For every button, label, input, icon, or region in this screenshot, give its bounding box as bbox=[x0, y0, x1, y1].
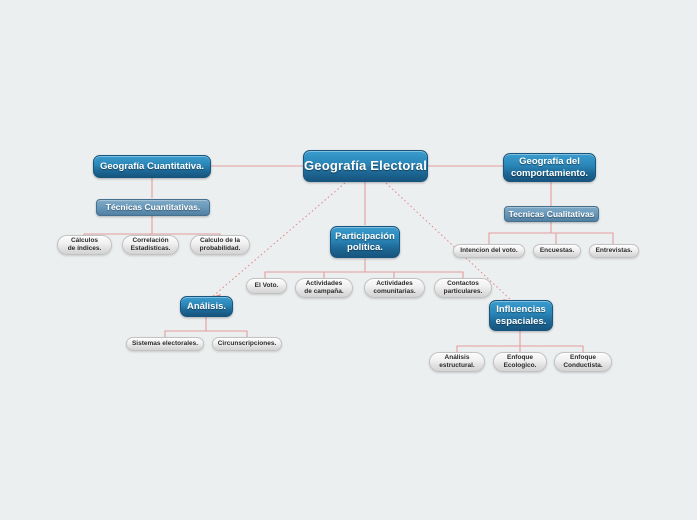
node-actividades-campana-label: Actividades de campaña. bbox=[304, 280, 343, 295]
node-participacion-politica-label: Participación política. bbox=[335, 231, 395, 253]
node-enfoque-conductista[interactable]: Enfoque Conductista. bbox=[554, 352, 612, 372]
node-sistemas-electorales-label: Sistemas electorales. bbox=[132, 340, 198, 348]
node-calculos-indices[interactable]: Cálculos de índices. bbox=[57, 235, 112, 255]
link-tcual-fanout bbox=[489, 233, 613, 244]
node-sistemas-electorales[interactable]: Sistemas electorales. bbox=[126, 337, 204, 351]
node-analisis-estructural[interactable]: Análisis estructural. bbox=[429, 352, 485, 372]
node-actividades-comunitarias-label: Actividades comunitarias. bbox=[373, 280, 415, 295]
node-geografia-comportamiento[interactable]: Geografía del comportamiento. bbox=[503, 153, 596, 182]
node-actividades-campana[interactable]: Actividades de campaña. bbox=[295, 278, 353, 298]
node-enfoque-ecologico[interactable]: Enfoque Ecologico. bbox=[493, 352, 547, 372]
node-enfoque-conductista-label: Enfoque Conductista. bbox=[563, 354, 602, 369]
node-circunscripciones-label: Circunscripciones. bbox=[218, 340, 277, 348]
node-correlacion-estadisticas[interactable]: Correlación Estadisticas. bbox=[122, 235, 179, 255]
connector-layer bbox=[0, 0, 697, 520]
node-calculos-indices-label: Cálculos de índices. bbox=[68, 237, 102, 252]
node-encuestas[interactable]: Encuestas. bbox=[533, 244, 581, 258]
node-calculo-probabilidad-label: Calculo de la probabilidad. bbox=[200, 237, 241, 252]
node-geografia-comportamiento-label: Geografía del comportamiento. bbox=[511, 156, 588, 178]
node-encuestas-label: Encuestas. bbox=[540, 247, 574, 255]
node-root-label: Geografía Electoral bbox=[304, 158, 427, 173]
node-tecnicas-cualitativas[interactable]: Tecnicas Cualitativas bbox=[504, 206, 599, 222]
link-participacion-fanout bbox=[265, 272, 463, 278]
node-intencion-voto[interactable]: Intencion del voto. bbox=[453, 244, 525, 258]
node-influencias-espaciales-label: Influencias espaciales. bbox=[496, 304, 547, 326]
node-geografia-cuantitativa-label: Geografía Cuantitativa. bbox=[100, 161, 204, 172]
node-circunscripciones[interactable]: Circunscripciones. bbox=[212, 337, 282, 351]
node-analisis[interactable]: Análisis. bbox=[180, 296, 233, 317]
node-actividades-comunitarias[interactable]: Actividades comunitarias. bbox=[364, 278, 425, 298]
node-tecnicas-cuantitativas-label: Técnicas Cuantitativas. bbox=[106, 202, 200, 212]
node-participacion-politica[interactable]: Participación política. bbox=[330, 226, 400, 258]
node-el-voto-label: El Voto. bbox=[255, 282, 279, 290]
node-contactos-particulares[interactable]: Contactos particulares. bbox=[434, 278, 492, 298]
node-calculo-probabilidad[interactable]: Calculo de la probabilidad. bbox=[190, 235, 250, 255]
node-influencias-espaciales[interactable]: Influencias espaciales. bbox=[489, 300, 553, 331]
node-entrevistas-label: Entrevistas. bbox=[596, 247, 633, 255]
node-geografia-cuantitativa[interactable]: Geografía Cuantitativa. bbox=[93, 155, 211, 178]
node-root[interactable]: Geografía Electoral bbox=[303, 150, 428, 182]
node-tecnicas-cuantitativas[interactable]: Técnicas Cuantitativas. bbox=[96, 199, 210, 216]
node-correlacion-estadisticas-label: Correlación Estadisticas. bbox=[131, 237, 171, 252]
node-el-voto[interactable]: El Voto. bbox=[246, 278, 287, 294]
node-enfoque-ecologico-label: Enfoque Ecologico. bbox=[504, 354, 537, 369]
node-intencion-voto-label: Intencion del voto. bbox=[460, 247, 517, 255]
node-contactos-particulares-label: Contactos particulares. bbox=[444, 280, 483, 295]
mindmap-canvas: Geografía Electoral Geografía Cuantitati… bbox=[0, 0, 697, 520]
node-entrevistas[interactable]: Entrevistas. bbox=[589, 244, 639, 258]
node-analisis-estructural-label: Análisis estructural. bbox=[439, 354, 474, 369]
node-analisis-label: Análisis. bbox=[187, 301, 226, 312]
node-tecnicas-cualitativas-label: Tecnicas Cualitativas bbox=[509, 209, 595, 219]
